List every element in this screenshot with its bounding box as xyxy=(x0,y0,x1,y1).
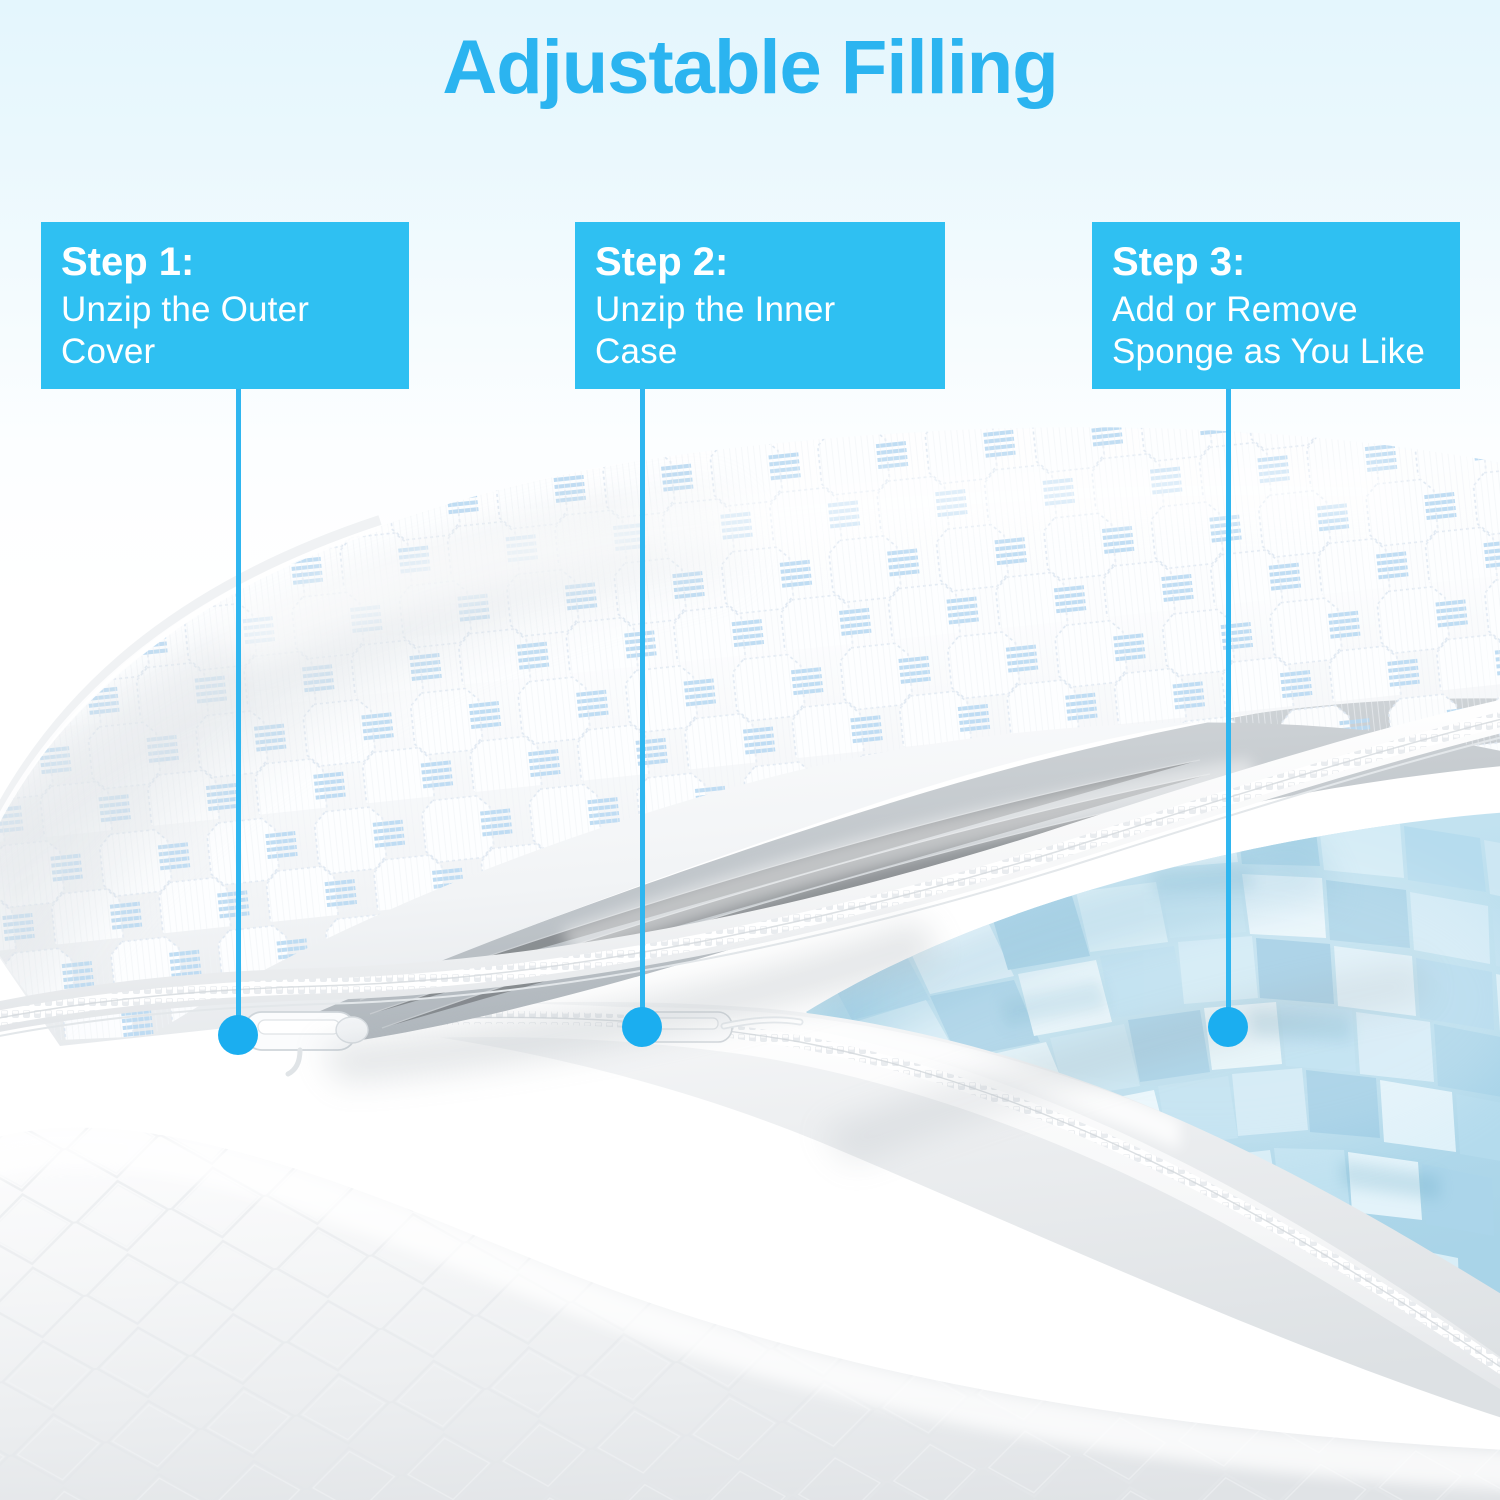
step-1-description: Unzip the Outer Cover xyxy=(61,289,389,373)
step-2-description: Unzip the Inner Case xyxy=(595,289,925,373)
step-1-title: Step 1: xyxy=(61,240,389,285)
step-3-description: Add or Remove Sponge as You Like xyxy=(1112,289,1440,373)
step-2-title: Step 2: xyxy=(595,240,925,285)
callout-dot-2 xyxy=(622,1007,662,1047)
callout-dot-3 xyxy=(1208,1007,1248,1047)
leader-line-1 xyxy=(236,389,241,1037)
step-card-1: Step 1: Unzip the Outer Cover xyxy=(41,222,409,389)
page-title: Adjustable Filling xyxy=(0,26,1500,110)
leader-line-2 xyxy=(640,389,645,1029)
callout-dot-1 xyxy=(218,1015,258,1055)
step-card-3: Step 3: Add or Remove Sponge as You Like xyxy=(1092,222,1460,389)
step-card-2: Step 2: Unzip the Inner Case xyxy=(575,222,945,389)
leader-line-3 xyxy=(1226,389,1231,1029)
step-3-title: Step 3: xyxy=(1112,240,1440,285)
